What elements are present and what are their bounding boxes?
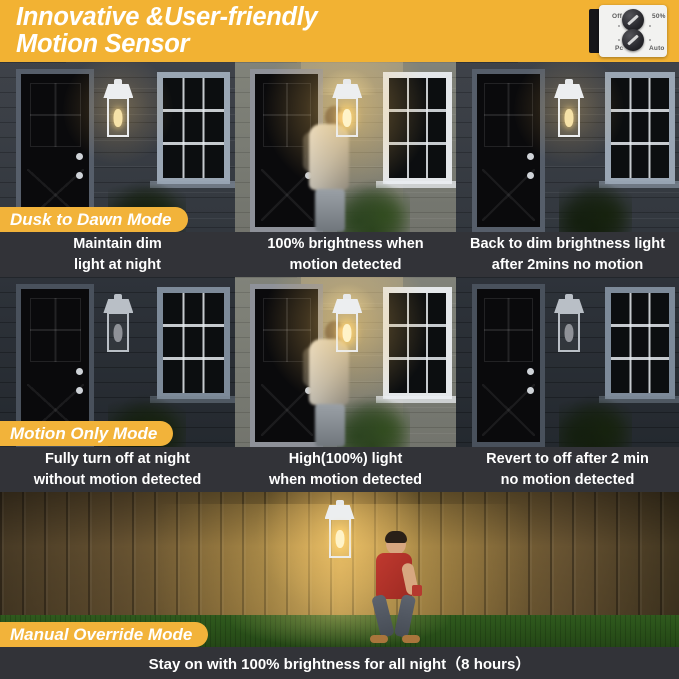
lantern-hood [103,299,133,313]
mode-dial-icon [622,29,644,51]
hanging-lantern-bright [325,500,355,566]
wall-lantern-off [103,294,133,356]
lantern-bulb-icon [565,324,574,342]
lantern-hood [554,299,584,313]
photo-panel [235,277,456,447]
caption-band-motion-only: Fully turn off at night without motion d… [0,447,679,492]
boy-leg-back [371,594,395,638]
door-knob-icon [527,153,534,160]
door-window-panes [484,83,532,147]
wall-lantern-bright [332,79,362,141]
lantern-body [107,312,129,352]
header-banner: Innovative &User-friendly Motion Sensor … [0,0,679,62]
door-lock-icon [527,172,534,179]
mode-badge-dusk-to-dawn: Dusk to Dawn Mode [0,207,188,232]
door-knob-icon [76,153,83,160]
lantern-bulb-icon [343,324,352,342]
door-knob-icon [527,368,534,375]
switch-tick-dot [618,25,620,27]
boy-shoe-back [370,635,388,643]
door-knob-icon [76,368,83,375]
shrub [559,178,633,232]
lantern-bulb-icon [114,109,123,127]
front-door [472,284,546,447]
page-title: Innovative &User-friendly Motion Sensor [16,4,446,58]
lantern-hood [554,84,584,98]
lantern-bulb-icon [335,530,344,548]
door-window-panes [484,298,532,362]
wall-lantern-dim [554,79,584,141]
panel-caption: 100% brightness when motion detected [235,232,456,277]
photo-panel [456,277,679,447]
mode-badge-manual-override: Manual Override Mode [0,622,208,647]
door-window-panes [30,298,81,362]
shrub [559,393,633,447]
house-dark-scene [456,277,679,447]
lantern-body [329,518,351,558]
lantern-hood [103,84,133,98]
switch-tick-dot [649,39,651,41]
door-lock-icon [527,387,534,394]
mode-badge-motion-only: Motion Only Mode [0,421,173,446]
lantern-bulb-icon [565,109,574,127]
lantern-body [336,97,358,137]
front-door [472,69,546,232]
house-window [157,72,230,184]
wall-lantern-off [554,294,584,356]
switch-label-off: Off [612,13,622,20]
product-infographic: Innovative &User-friendly Motion Sensor … [0,0,679,679]
switch-plate-body: Off 50% Pc Auto [599,5,667,57]
brightness-dial-icon [622,9,644,31]
lantern-body [107,97,129,137]
lantern-bulb-icon [114,324,123,342]
panel-caption: Maintain dim light at night [0,232,235,277]
mode-selector-switch: Off 50% Pc Auto [589,5,667,57]
wall-lantern-dim [103,79,133,141]
panel-caption: Stay on with 100% brightness for all nig… [0,647,679,679]
panel-caption: Revert to off after 2 min no motion dete… [456,447,679,492]
switch-tick-dot [649,25,651,27]
person-legs [315,189,345,232]
lantern-body [558,312,580,352]
house-window [157,287,230,399]
door-window-panes [30,83,81,147]
wall-lantern-bright [332,294,362,356]
switch-label-half: 50% [652,13,666,20]
house-window [383,72,452,184]
photo-panel [235,62,456,232]
panel-caption: Back to dim brightness light after 2mins… [456,232,679,277]
lantern-hood [325,505,355,519]
lantern-body [336,312,358,352]
house-window [383,287,452,399]
boy-hair [385,531,407,543]
boy-shoe-front [402,635,420,643]
house-window [605,287,674,399]
door-lock-icon [76,387,83,394]
lantern-hood [332,299,362,313]
house-night-scene [456,62,679,232]
lantern-hood [332,84,362,98]
switch-label-auto: Auto [649,45,665,52]
house-lit-scene [235,62,456,232]
switch-label-pc: Pc [615,45,623,52]
door-lock-icon [76,172,83,179]
boy-leg-front [394,594,416,638]
switch-tick-dot [618,39,620,41]
panel-caption: Fully turn off at night without motion d… [0,447,235,492]
house-window [605,72,674,184]
boy-legs [374,595,416,639]
panel-caption: High(100%) light when motion detected [235,447,456,492]
house-lit-scene [235,277,456,447]
caption-band-dusk-to-dawn: Maintain dim light at night 100% brightn… [0,232,679,277]
photo-panel [456,62,679,232]
person-legs [315,404,345,447]
lantern-bulb-icon [343,109,352,127]
lantern-body [558,97,580,137]
boy-walking [360,533,430,645]
